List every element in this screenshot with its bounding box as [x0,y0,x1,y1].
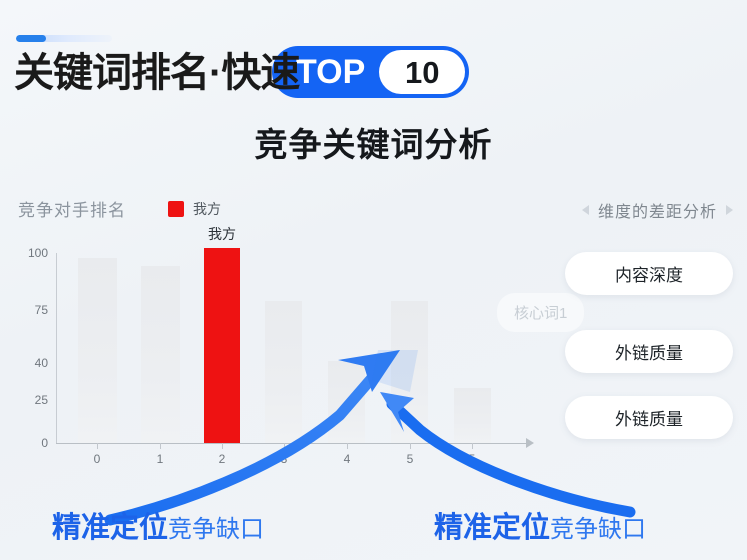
bar-chart: 100 75 40 25 0 我方 0 1 2 3 4 5 5 [14,248,534,458]
dimension-pill-backlink-quality-1[interactable]: 外链质量 [565,330,733,373]
x-axis-arrow-icon [526,438,534,448]
legend-item-mine: 我方 [168,199,221,219]
core-word-pill: 核心词1 [497,293,584,332]
top-badge-number: 10 [405,57,439,88]
bar-2-highlight [204,248,240,443]
top-badge-label: TOP [296,55,365,89]
bar-3 [265,301,302,443]
x-tick-label: 5 [407,452,414,466]
x-axis-line [56,443,526,444]
bar-1 [141,266,180,443]
caption-left-weak: 竞争缺口 [168,509,264,544]
x-tick-label: 3 [281,452,288,466]
x-tick-label: 1 [157,452,164,466]
progress-bar [16,35,112,42]
bar-0 [78,258,117,443]
highlight-bar-caption: 我方 [208,224,236,244]
caption-right-weak: 竞争缺口 [550,509,646,544]
headline-text: 关键词排名·快速 [14,53,299,93]
x-tick-label: 5 [469,452,476,466]
chart-axis-title: 竞争对手排名 [18,196,126,221]
dimension-panel-title: 维度的差距分析 [598,198,717,222]
progress-bar-fill [16,35,46,42]
caption-right-strong: 精准定位 [434,504,550,546]
y-tick-label: 100 [28,246,48,260]
top-rank-badge: TOP 10 [272,46,469,98]
x-tick-label: 0 [94,452,101,466]
caption-left-strong: 精准定位 [52,504,168,546]
plot-area: 我方 0 1 2 3 4 5 5 [57,248,527,443]
chart-legend: 竞争对手排名 我方 [18,196,221,221]
y-tick-label: 0 [41,436,48,450]
headline: 关键词排名·快速 [14,45,299,101]
legend-color-swatch-icon [168,201,184,217]
y-tick-label: 75 [35,303,48,317]
x-tick-label: 2 [219,452,226,466]
x-tick-label: 4 [344,452,351,466]
caret-left-icon[interactable] [582,205,589,215]
caption-right: 精准定位 竞争缺口 [434,504,646,546]
caret-right-icon[interactable] [726,205,733,215]
page-title: 竞争关键词分析 [0,118,747,166]
top-badge-circle: 10 [379,50,465,94]
y-tick-label: 40 [35,356,48,370]
dimension-pill-backlink-quality-2[interactable]: 外链质量 [565,396,733,439]
caption-left: 精准定位 竞争缺口 [52,504,264,546]
bar-6 [454,388,491,443]
y-tick-label: 25 [35,393,48,407]
y-axis: 100 75 40 25 0 [14,248,54,443]
legend-item-label: 我方 [193,199,221,219]
bar-5 [391,301,428,443]
dimension-pill-content-depth[interactable]: 内容深度 [565,252,733,295]
dimension-panel-header: 维度的差距分析 [582,198,733,222]
bar-4 [328,361,365,443]
